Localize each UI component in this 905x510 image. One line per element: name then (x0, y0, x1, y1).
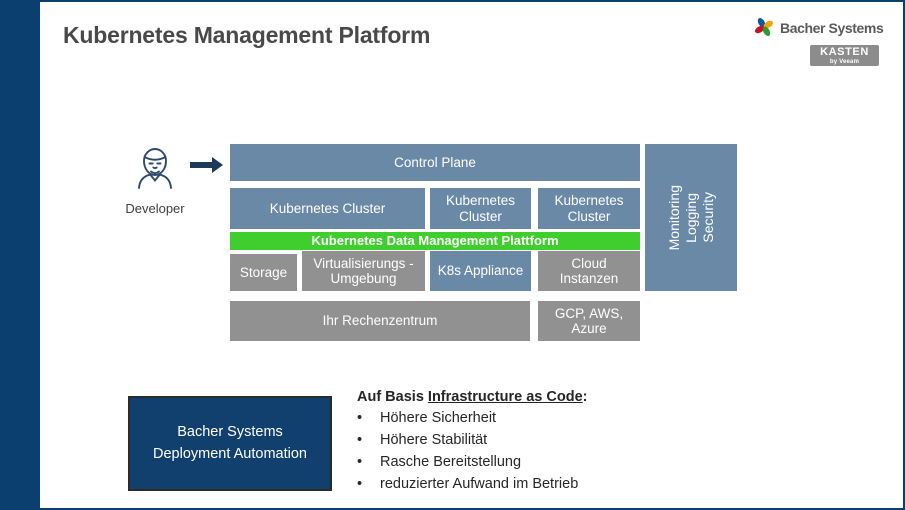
bullet-icon: • (357, 432, 380, 448)
list-item-label: Höhere Stabilität (380, 432, 487, 448)
left-accent-bar (0, 0, 40, 510)
block-virtualisierungs-umgebung: Virtualisierungs -Umgebung (302, 251, 425, 291)
deployment-automation-callout: Bacher Systems Deployment Automation (128, 396, 332, 491)
developer-label: Developer (122, 201, 188, 216)
bullet-icon: • (357, 454, 380, 470)
list-item: • Höhere Stabilität (357, 432, 777, 448)
block-storage: Storage (230, 254, 297, 291)
block-kubernetes-data-management-plattform: Kubernetes Data Management Plattform (230, 232, 640, 250)
right-arrow-icon (190, 155, 224, 175)
kasten-byline: by Veeam (810, 59, 879, 65)
list-item-label: Rasche Bereitstellung (380, 454, 521, 470)
block-kubernetes-cluster-1: Kubernetes Cluster (230, 188, 425, 229)
kasten-wordmark: KASTEN (810, 47, 879, 58)
callout-line-1: Bacher Systems (177, 422, 283, 444)
bacher-systems-wordmark: Bacher Systems (780, 20, 883, 36)
slide-canvas: Kubernetes Management Platform Bacher Sy… (0, 0, 905, 510)
block-control-plane: Control Plane (230, 144, 640, 181)
sidebar-label-security: Security (700, 192, 716, 243)
block-kubernetes-cluster-2: Kubernetes Cluster (430, 188, 531, 229)
benefits-heading-suffix: : (583, 389, 588, 405)
list-item-label: Höhere Sicherheit (380, 410, 496, 426)
bullet-icon: • (357, 476, 380, 492)
benefits-heading-prefix: Auf Basis (357, 389, 428, 405)
developer-actor: Developer (122, 142, 188, 216)
page-title: Kubernetes Management Platform (63, 22, 430, 49)
block-cloud-instanzen: Cloud Instanzen (538, 251, 640, 291)
block-kubernetes-cluster-3: Kubernetes Cluster (538, 188, 640, 229)
block-gcp-aws-azure: GCP, AWS, Azure (538, 301, 640, 341)
sidebar-label-monitoring: Monitoring (666, 185, 682, 250)
block-ihr-rechenzentrum: Ihr Rechenzentrum (230, 301, 530, 341)
slide-frame-top (40, 0, 905, 2)
sidebar-label-logging: Logging (683, 193, 699, 243)
developer-person-icon (130, 142, 180, 192)
callout-line-2: Deployment Automation (153, 444, 307, 466)
list-item: • Höhere Sicherheit (357, 410, 777, 426)
block-k8s-appliance: K8s Appliance (430, 251, 531, 291)
list-item-label: reduzierter Aufwand im Betrieb (380, 476, 578, 492)
benefits-heading-underlined: Infrastructure as Code (428, 389, 583, 405)
bacher-systems-logo: Bacher Systems (752, 16, 883, 40)
benefits-section: Auf Basis Infrastructure as Code: • Höhe… (357, 389, 777, 498)
block-monitoring-logging-security: Monitoring Logging Security (645, 144, 737, 291)
kasten-by-veeam-logo: KASTEN by Veeam (810, 45, 879, 66)
benefits-heading: Auf Basis Infrastructure as Code: (357, 389, 777, 405)
four-diamond-logo-icon (752, 16, 776, 40)
list-item: • reduzierter Aufwand im Betrieb (357, 476, 777, 492)
list-item: • Rasche Bereitstellung (357, 454, 777, 470)
bullet-icon: • (357, 410, 380, 426)
